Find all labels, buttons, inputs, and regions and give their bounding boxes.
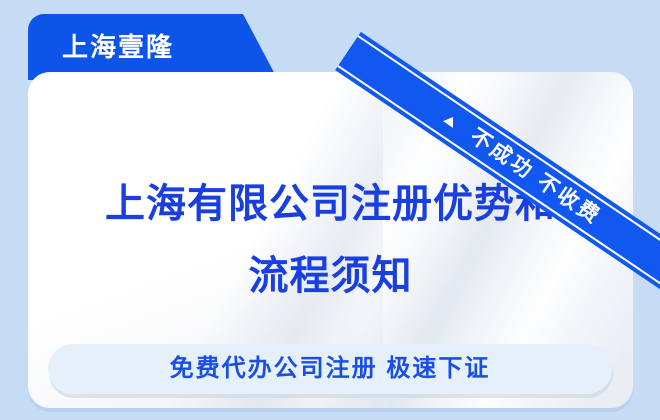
- page-title-line-2: 流程须知: [28, 240, 633, 312]
- content-card: 上海有限公司注册优势和 流程须知 免费代办公司注册 极速下证: [28, 72, 633, 408]
- poster-canvas: 上海壹隆 上海有限公司注册优势和 流程须知 免费代办公司注册 极速下证 不成功 …: [0, 0, 660, 420]
- triangle-up-icon: [443, 113, 458, 127]
- cta-pill-label: 免费代办公司注册 极速下证: [170, 354, 491, 384]
- cta-pill[interactable]: 免费代办公司注册 极速下证: [48, 344, 612, 394]
- brand-tab-label: 上海壹隆: [62, 30, 174, 64]
- brand-tab[interactable]: 上海壹隆: [28, 14, 278, 80]
